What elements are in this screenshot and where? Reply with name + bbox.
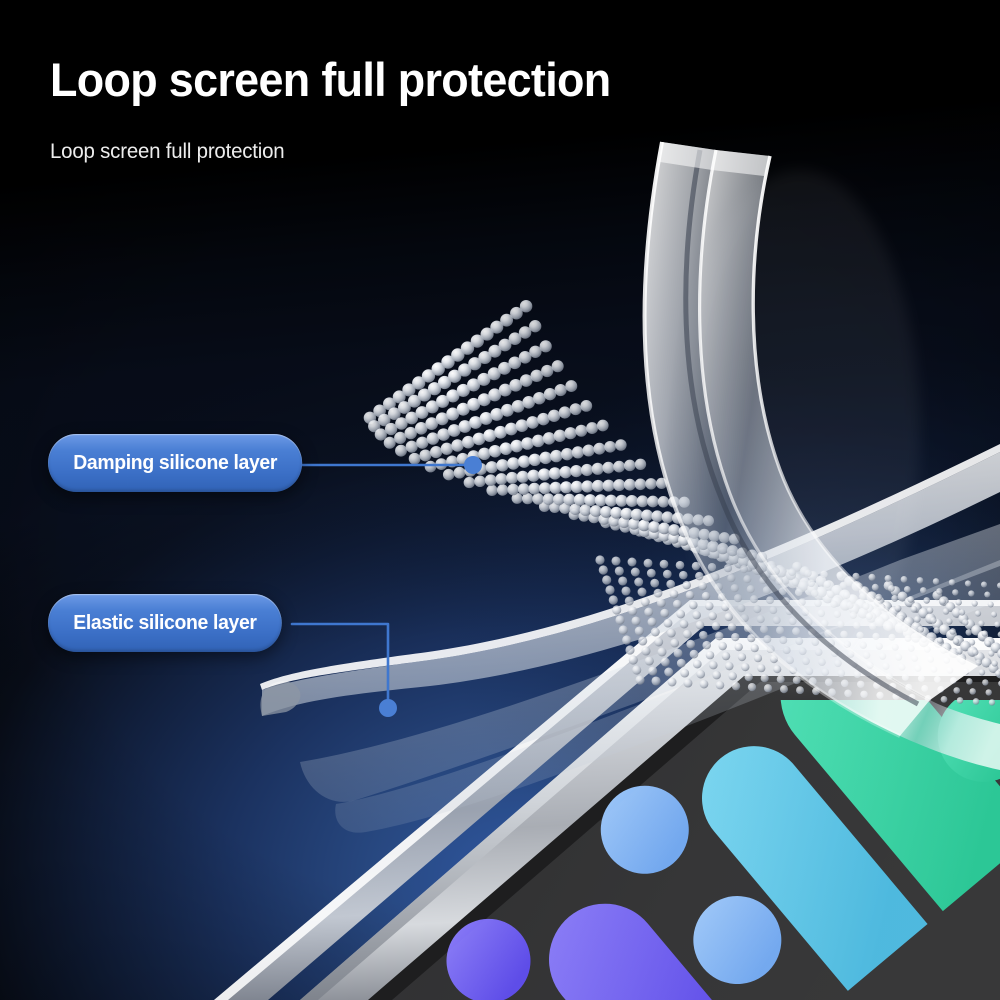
callout-pill-elastic-silicone-layer[interactable]: Elastic silicone layer: [48, 594, 282, 652]
callout-pill-damping-silicone-layer[interactable]: Damping silicone layer: [48, 434, 302, 492]
product-image-canvas: Loop screen full protection Loop screen …: [0, 0, 1000, 1000]
callout-label-elastic: Elastic silicone layer: [73, 612, 256, 635]
callout-group: Damping silicone layer Elastic silicone …: [0, 0, 1000, 1000]
callout-label-damping: Damping silicone layer: [73, 452, 277, 475]
